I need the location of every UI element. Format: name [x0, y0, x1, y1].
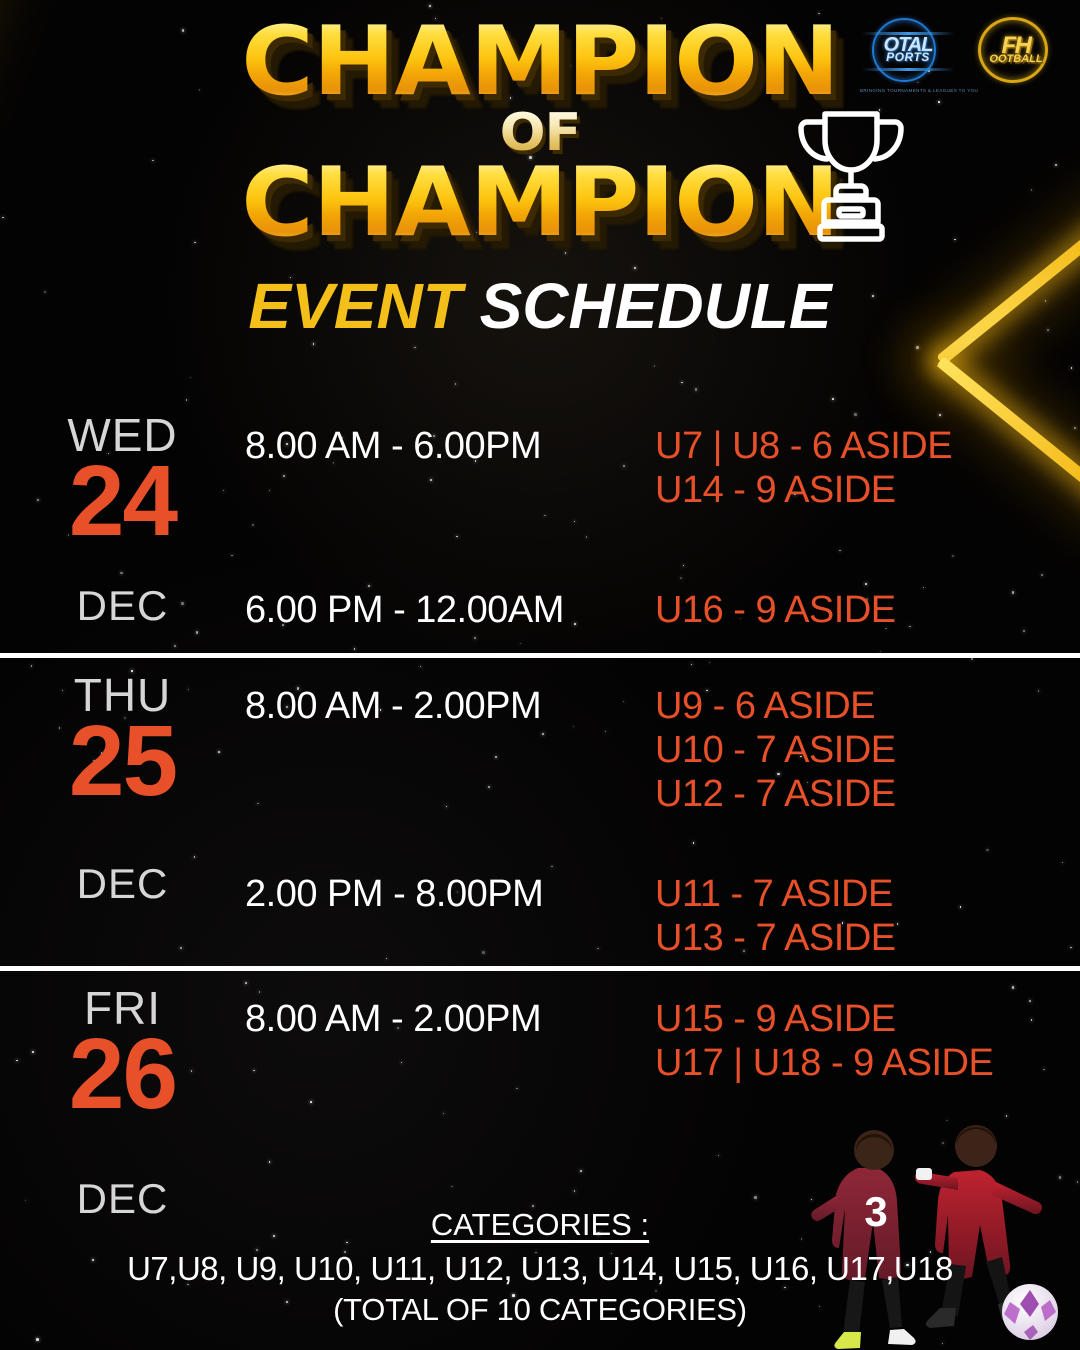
categories-list: U7,U8, U9, U10, U11, U12, U13, U14, U15,…: [0, 1250, 1080, 1288]
footer-block: CATEGORIES : U7,U8, U9, U10, U11, U12, U…: [0, 1207, 1080, 1328]
day-number: 26: [0, 1027, 245, 1122]
slot-categories: U16 - 9 ASIDE: [655, 588, 896, 632]
category-line: U12 - 7 ASIDE: [655, 772, 896, 816]
title-block: CHAMPION OF CHAMPION EVENT SCHEDULE: [0, 18, 1080, 343]
month-label: DEC: [0, 585, 245, 627]
date-column: WED24DEC: [0, 398, 245, 627]
category-line: U11 - 7 ASIDE: [655, 872, 896, 916]
slot-time: 8.00 AM - 2.00PM: [245, 684, 655, 728]
time-slot: 2.00 PM - 8.00PMU11 - 7 ASIDEU13 - 7 ASI…: [245, 872, 1080, 960]
date-column: FRI26DEC: [0, 971, 245, 1220]
slot-time: 8.00 AM - 6.00PM: [245, 424, 655, 468]
category-line: U16 - 9 ASIDE: [655, 588, 896, 632]
category-line: U9 - 6 ASIDE: [655, 684, 896, 728]
slot-column: 8.00 AM - 6.00PMU7 | U8 - 6 ASIDEU14 - 9…: [245, 398, 1080, 632]
slot-categories: U7 | U8 - 6 ASIDEU14 - 9 ASIDE: [655, 424, 952, 512]
football-hub-word: OOTBALL: [989, 55, 1042, 64]
category-line: U14 - 9 ASIDE: [655, 468, 952, 512]
category-line: U13 - 7 ASIDE: [655, 916, 896, 960]
slot-categories: U11 - 7 ASIDEU13 - 7 ASIDE: [655, 872, 896, 960]
slot-time: 2.00 PM - 8.00PM: [245, 872, 655, 916]
slot-time: 8.00 AM - 2.00PM: [245, 997, 655, 1041]
trophy-icon: [787, 100, 915, 260]
slot-time: 6.00 PM - 12.00AM: [245, 588, 655, 632]
date-column: THU25DEC: [0, 658, 245, 905]
schedule-row: WED24DEC8.00 AM - 6.00PMU7 | U8 - 6 ASID…: [0, 398, 1080, 653]
total-sports-line2: PORTS: [884, 53, 933, 63]
day-number: 24: [0, 454, 245, 549]
time-slot: 8.00 AM - 6.00PMU7 | U8 - 6 ASIDEU14 - 9…: [245, 424, 1080, 512]
page-title: EVENT SCHEDULE: [0, 269, 1080, 343]
time-slot: 6.00 PM - 12.00AMU16 - 9 ASIDE: [245, 588, 1080, 632]
schedule-row: THU25DEC8.00 AM - 2.00PMU9 - 6 ASIDEU10 …: [0, 658, 1080, 966]
time-slot: 8.00 AM - 2.00PMU9 - 6 ASIDEU10 - 7 ASID…: [245, 684, 1080, 816]
page-title-accent: EVENT: [248, 270, 461, 342]
slot-categories: U9 - 6 ASIDEU10 - 7 ASIDEU12 - 7 ASIDE: [655, 684, 896, 816]
slot-column: 8.00 AM - 2.00PMU9 - 6 ASIDEU10 - 7 ASID…: [245, 658, 1080, 960]
day-number: 25: [0, 714, 245, 809]
category-line: U10 - 7 ASIDE: [655, 728, 896, 772]
page-title-rest: SCHEDULE: [480, 270, 832, 342]
categories-heading: CATEGORIES :: [0, 1207, 1080, 1243]
categories-total: (TOTAL OF 10 CATEGORIES): [0, 1292, 1080, 1328]
category-line: U7 | U8 - 6 ASIDE: [655, 424, 952, 468]
poster-root: OTAL PORTS BRINGING TOURNAMENTS & LEAGUE…: [0, 0, 1080, 1350]
title-line-3: CHAMPION: [0, 159, 1080, 247]
category-line: U15 - 9 ASIDE: [655, 997, 993, 1041]
month-label: DEC: [0, 863, 245, 905]
